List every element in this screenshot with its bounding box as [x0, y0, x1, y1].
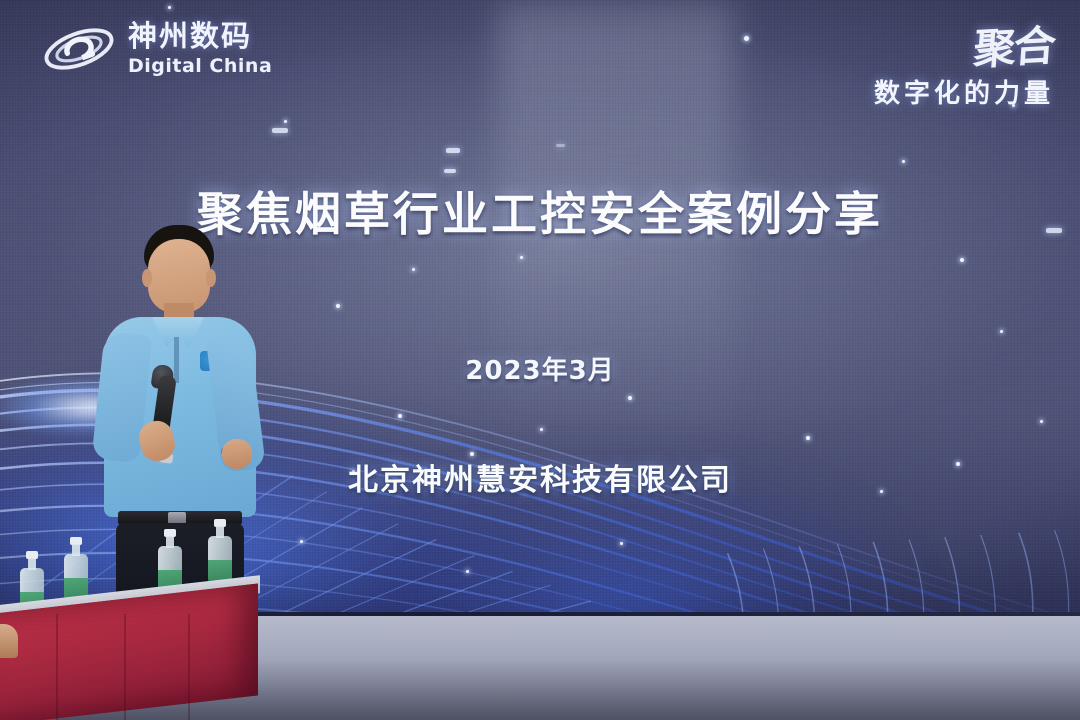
bottle-neck — [216, 526, 224, 538]
speaker-ear-right — [206, 269, 216, 287]
conference-photo: 聚焦烟草行业工控安全案例分享 2023年3月 北京神州慧安科技有限公司 神州数码… — [0, 0, 1080, 720]
logo-name-cn: 神州数码 — [128, 22, 272, 51]
speaker-placket — [174, 337, 179, 383]
event-calligraphy: 聚合 — [972, 12, 1057, 77]
speaker-hand-right — [222, 439, 252, 469]
bottle-body — [208, 536, 232, 584]
event-logo: 聚合 数字化的力量 — [874, 14, 1054, 110]
cloth-fold — [188, 614, 190, 720]
digital-china-wordmark: 神州数码 Digital China — [128, 22, 272, 76]
water-bottle — [208, 536, 232, 584]
event-tagline: 数字化的力量 — [874, 73, 1054, 110]
bottle-neck — [28, 558, 36, 570]
cloth-fold — [56, 614, 58, 720]
digital-china-swirl-icon — [40, 18, 118, 80]
cloth-fold — [124, 614, 126, 720]
digital-china-logo: 神州数码 Digital China — [40, 18, 272, 80]
speaker-ear-left — [142, 269, 152, 287]
speaker-head — [148, 239, 210, 313]
panel-table — [0, 590, 265, 720]
foreground-attendee — [0, 624, 18, 658]
bottle-neck — [166, 536, 174, 548]
bottle-neck — [72, 544, 80, 556]
logo-name-en: Digital China — [128, 57, 272, 76]
